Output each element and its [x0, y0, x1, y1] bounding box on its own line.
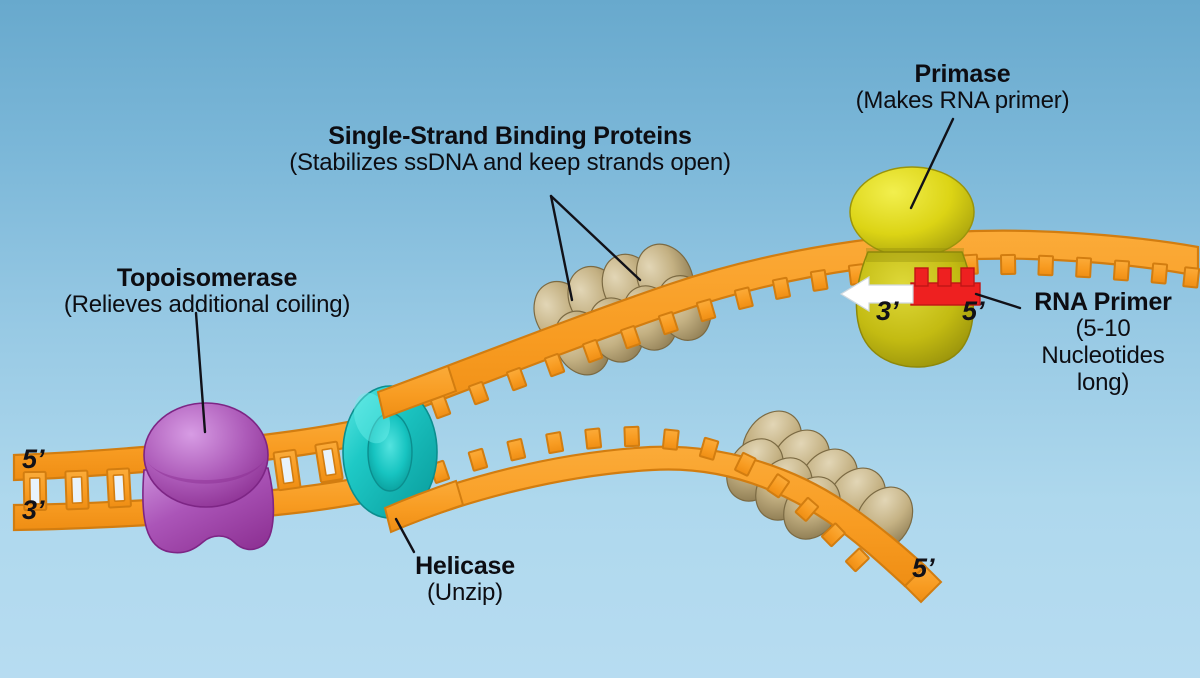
topoisomerase-description: (Relieves additional coiling)	[22, 292, 392, 319]
ssb-description: (Stabilizes ssDNA and keep strands open)	[255, 150, 765, 177]
helicase-title: Helicase	[370, 552, 560, 580]
label-rna-primer: RNA Primer (5-10 Nucleotides long)	[1010, 288, 1196, 397]
rna-primer-description-line3: long)	[1010, 370, 1196, 397]
primase-enzyme[interactable]	[850, 167, 974, 367]
strand-end-3prime-left: 3’	[22, 495, 45, 526]
label-topoisomerase: Topoisomerase (Relieves additional coili…	[22, 264, 392, 319]
diagram-canvas: Single-Strand Binding Proteins (Stabiliz…	[0, 0, 1200, 678]
topoisomerase-title: Topoisomerase	[22, 264, 392, 292]
rna-primer-title: RNA Primer	[1010, 288, 1196, 316]
ssb-title: Single-Strand Binding Proteins	[255, 122, 765, 150]
label-helicase: Helicase (Unzip)	[370, 552, 560, 607]
rna-primer-description-line1: (5-10	[1010, 316, 1196, 343]
topoisomerase-enzyme[interactable]	[143, 403, 274, 553]
strand-end-5prime-left: 5’	[22, 444, 45, 475]
rna-primer-description-line2: Nucleotides	[1010, 343, 1196, 370]
label-primase: Primase (Makes RNA primer)	[835, 60, 1090, 115]
primase-title: Primase	[835, 60, 1090, 88]
helicase-description: (Unzip)	[370, 580, 560, 607]
primer-5prime-label: 5’	[962, 296, 985, 327]
label-single-strand-binding-proteins: Single-Strand Binding Proteins (Stabiliz…	[255, 122, 765, 177]
primer-3prime-label: 3’	[876, 296, 899, 327]
primase-description: (Makes RNA primer)	[835, 88, 1090, 115]
strand-end-5prime-lagging: 5’	[912, 553, 935, 584]
